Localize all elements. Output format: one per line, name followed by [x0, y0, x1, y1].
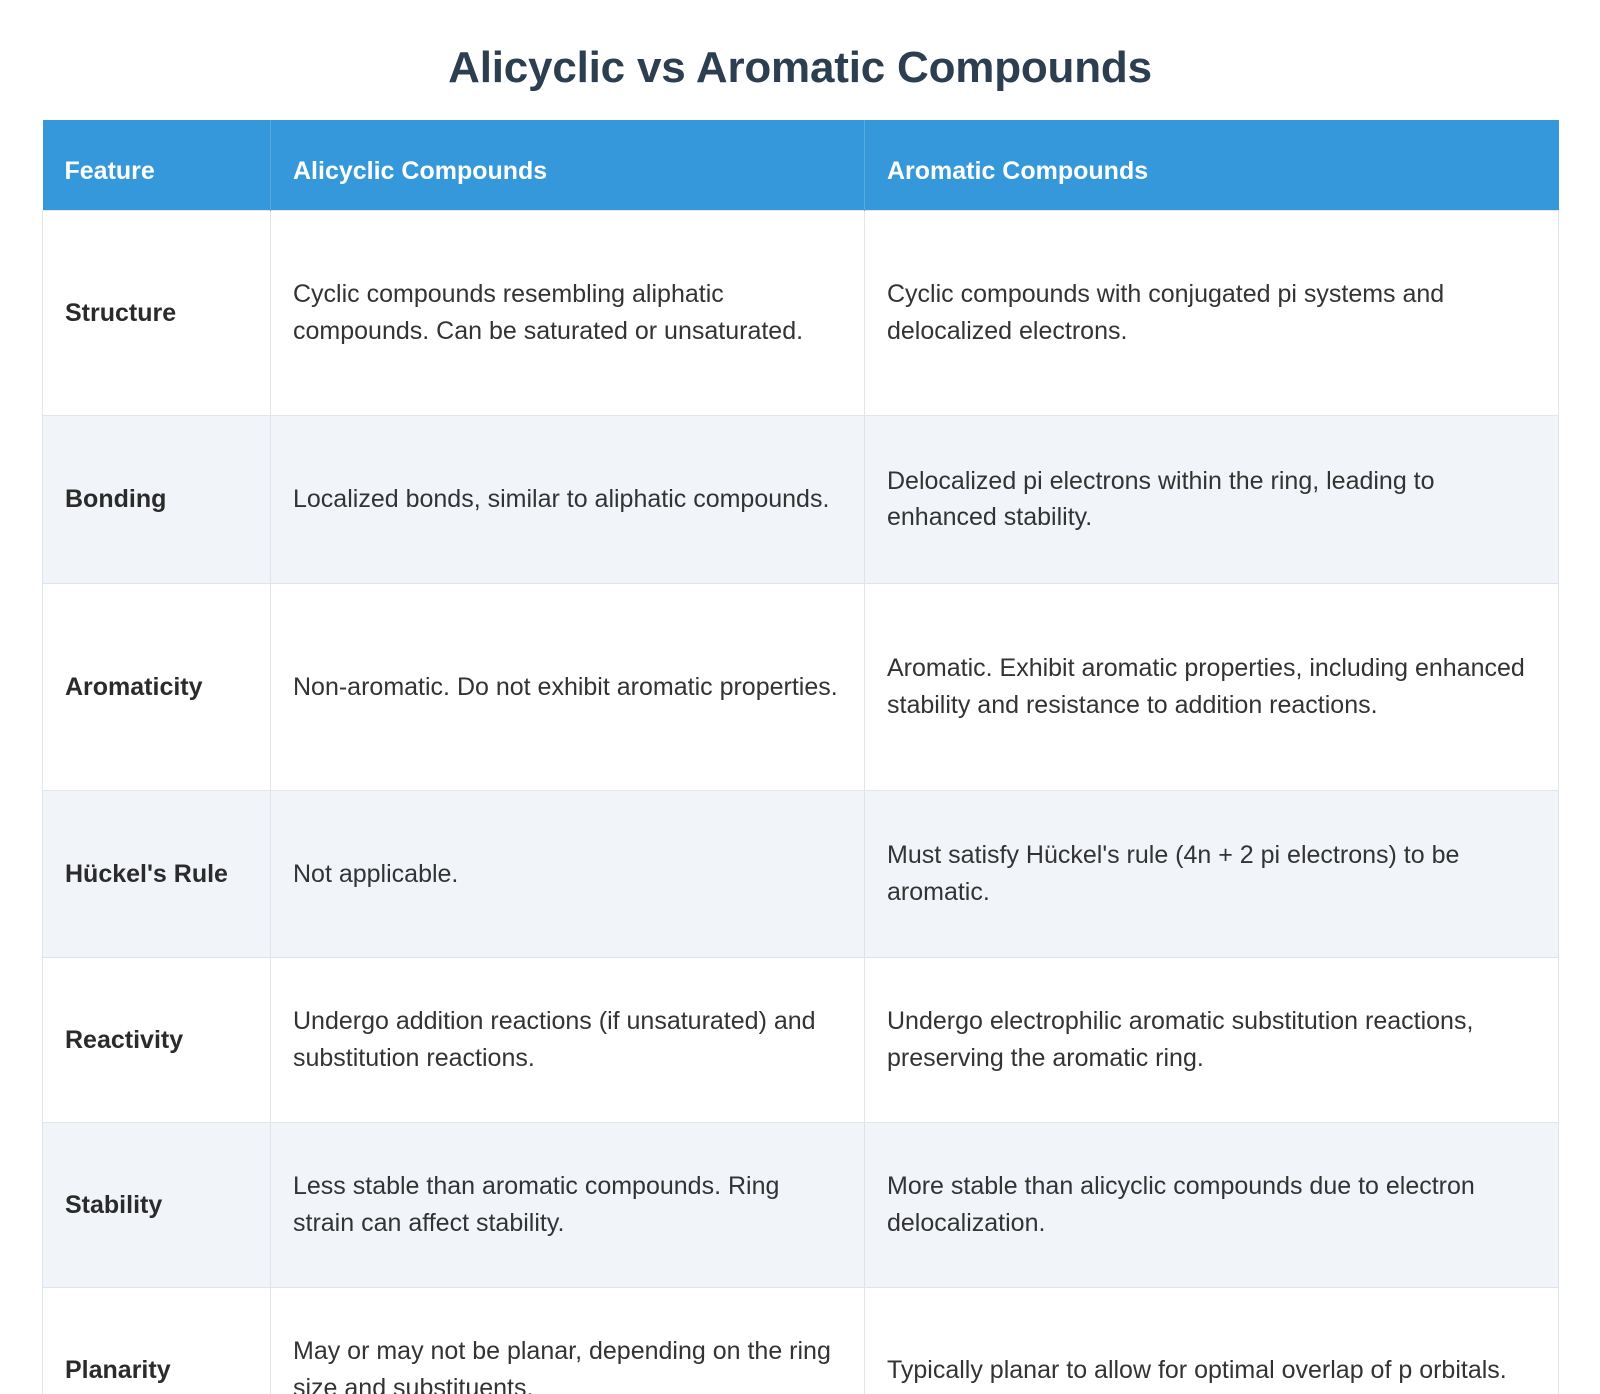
cell-aromatic-stability: More stable than alicyclic compounds due… [865, 1122, 1559, 1287]
table-row: Hückel's Rule Not applicable. Must satis… [43, 790, 1559, 957]
comparison-table: Feature Alicyclic Compounds Aromatic Com… [42, 120, 1559, 1394]
table-row: Bonding Localized bonds, similar to alip… [43, 415, 1559, 583]
table-row: Reactivity Undergo addition reactions (i… [43, 957, 1559, 1122]
cell-aromatic-planarity: Typically planar to allow for optimal ov… [865, 1287, 1559, 1394]
row-feature-structure: Structure [43, 210, 271, 415]
table-row: Aromaticity Non-aromatic. Do not exhibit… [43, 583, 1559, 790]
cell-aromatic-huckels-rule: Must satisfy Hückel's rule (4n + 2 pi el… [865, 790, 1559, 957]
column-header-aromatic: Aromatic Compounds [865, 120, 1559, 210]
row-feature-aromaticity: Aromaticity [43, 583, 271, 790]
cell-aromatic-structure: Cyclic compounds with conjugated pi syst… [865, 210, 1559, 415]
cell-aromatic-aromaticity: Aromatic. Exhibit aromatic properties, i… [865, 583, 1559, 790]
table-container: Feature Alicyclic Compounds Aromatic Com… [0, 120, 1600, 1394]
column-header-feature: Feature [43, 120, 271, 210]
comparison-page: Alicyclic vs Aromatic Compounds Feature … [0, 0, 1600, 1394]
table-row: Planarity May or may not be planar, depe… [43, 1287, 1559, 1394]
cell-alicyclic-bonding: Localized bonds, similar to aliphatic co… [271, 415, 865, 583]
row-feature-bonding: Bonding [43, 415, 271, 583]
row-feature-planarity: Planarity [43, 1287, 271, 1394]
cell-aromatic-bonding: Delocalized pi electrons within the ring… [865, 415, 1559, 583]
row-feature-stability: Stability [43, 1122, 271, 1287]
cell-alicyclic-planarity: May or may not be planar, depending on t… [271, 1287, 865, 1394]
row-feature-reactivity: Reactivity [43, 957, 271, 1122]
table-header: Feature Alicyclic Compounds Aromatic Com… [43, 120, 1559, 210]
page-title: Alicyclic vs Aromatic Compounds [0, 0, 1600, 120]
cell-aromatic-reactivity: Undergo electrophilic aromatic substitut… [865, 957, 1559, 1122]
table-body: Structure Cyclic compounds resembling al… [43, 210, 1559, 1394]
cell-alicyclic-structure: Cyclic compounds resembling aliphatic co… [271, 210, 865, 415]
cell-alicyclic-stability: Less stable than aromatic compounds. Rin… [271, 1122, 865, 1287]
table-row: Structure Cyclic compounds resembling al… [43, 210, 1559, 415]
table-row: Stability Less stable than aromatic comp… [43, 1122, 1559, 1287]
cell-alicyclic-huckels-rule: Not applicable. [271, 790, 865, 957]
cell-alicyclic-reactivity: Undergo addition reactions (if unsaturat… [271, 957, 865, 1122]
column-header-alicyclic: Alicyclic Compounds [271, 120, 865, 210]
header-row: Feature Alicyclic Compounds Aromatic Com… [43, 120, 1559, 210]
row-feature-huckels-rule: Hückel's Rule [43, 790, 271, 957]
cell-alicyclic-aromaticity: Non-aromatic. Do not exhibit aromatic pr… [271, 583, 865, 790]
